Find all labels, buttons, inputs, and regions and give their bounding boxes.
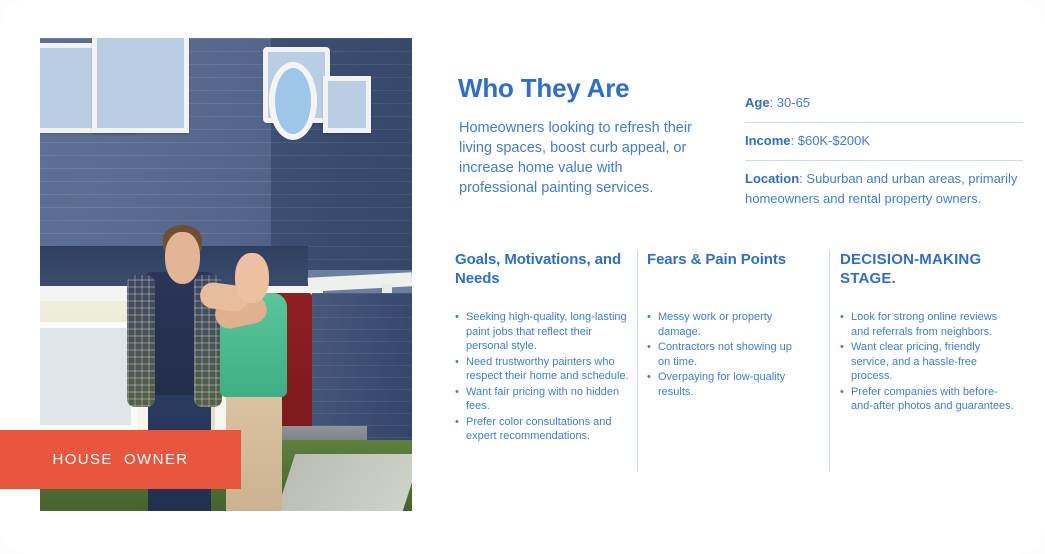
page-title: Who They Are xyxy=(458,73,718,104)
persona-badge: HOUSE OWNER xyxy=(0,430,241,489)
demographic-value-age: : 30-65 xyxy=(770,95,810,110)
list-item: Messy work or property damage. xyxy=(647,310,802,339)
list-item: Overpaying for low-quality results. xyxy=(647,370,802,399)
man-face xyxy=(165,232,200,284)
demographic-value-income: : $60K-$200K xyxy=(791,133,871,148)
persona-card: HOUSE OWNER Who They Are Homeowners look… xyxy=(0,0,1045,554)
demographic-row-location: Location: Suburban and urban areas, prim… xyxy=(745,160,1023,218)
list-item: Seeking high-quality, long-lasting paint… xyxy=(455,310,630,354)
persona-badge-label: HOUSE OWNER xyxy=(53,451,189,468)
column-title-decision-stage: DECISION-MAKING STAGE. xyxy=(840,250,1015,288)
goals-bullet-list: Seeking high-quality, long-lasting paint… xyxy=(455,310,630,444)
column-decision-stage: DECISION-MAKING STAGE. Look for strong o… xyxy=(840,250,1015,472)
list-item: Want clear pricing, friendly service, an… xyxy=(840,340,1015,384)
column-fears: Fears & Pain Points Messy work or proper… xyxy=(647,250,802,472)
persona-description: Homeowners looking to refresh their livi… xyxy=(459,118,704,198)
man-plaid-shirt-left xyxy=(127,275,155,407)
column-title-goals: Goals, Motivations, and Needs xyxy=(455,250,630,288)
persona-columns: Goals, Motivations, and Needs Seeking hi… xyxy=(455,250,1030,472)
column-divider-1 xyxy=(637,250,638,472)
woman-face xyxy=(235,253,268,303)
demographic-label-age: Age xyxy=(745,95,770,110)
list-item: Prefer color consultations and expert re… xyxy=(455,415,630,444)
list-item: Need trustworthy painters who respect th… xyxy=(455,355,630,384)
demographic-row-income: Income: $60K-$200K xyxy=(745,122,1023,160)
demographics-list: Age: 30-65 Income: $60K-$200K Location: … xyxy=(745,85,1023,218)
fears-bullet-list: Messy work or property damage. Contracto… xyxy=(647,310,802,399)
column-divider-2 xyxy=(829,250,830,472)
demographic-label-income: Income xyxy=(745,133,791,148)
list-item: Contractors not showing up on time. xyxy=(647,340,802,369)
list-item: Prefer companies with before-and-after p… xyxy=(840,385,1015,414)
decision-stage-bullet-list: Look for strong online reviews and refer… xyxy=(840,310,1015,414)
demographic-label-location: Location xyxy=(745,171,799,186)
list-item: Want fair pricing with no hidden fees. xyxy=(455,385,630,414)
column-title-fears: Fears & Pain Points xyxy=(647,250,802,269)
demographic-row-age: Age: 30-65 xyxy=(745,85,1023,122)
column-goals: Goals, Motivations, and Needs Seeking hi… xyxy=(455,250,630,472)
list-item: Look for strong online reviews and refer… xyxy=(840,310,1015,339)
